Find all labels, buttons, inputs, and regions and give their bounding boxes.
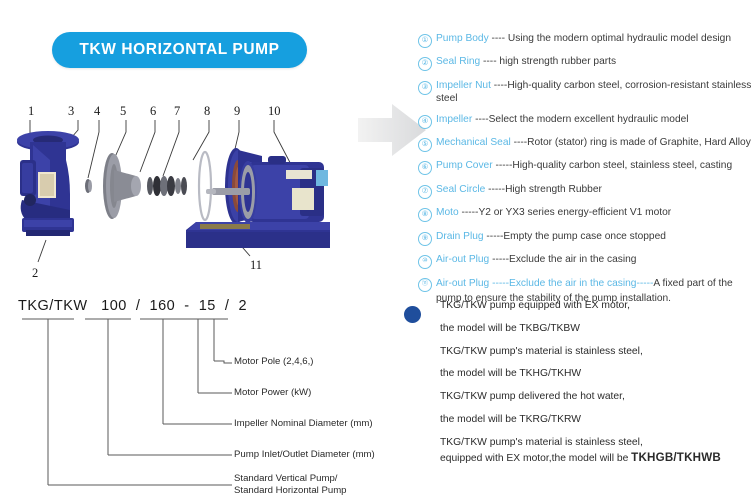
spec-dash: ----- — [493, 160, 513, 171]
spec-text: Seal Circle -----High strength Rubber — [436, 184, 756, 197]
spec-dash-secondary: ----- — [636, 278, 653, 289]
note-line: TKG/TKW pump equipped with EX motor, — [440, 300, 756, 311]
model-label-standard-vertical: Standard Vertical Pump/ — [234, 473, 337, 486]
note-line: the model will be TKBG/TKBW — [440, 323, 756, 334]
spec-dash: ----- — [485, 184, 505, 195]
spec-number: ③ — [418, 81, 432, 95]
spec-number: ⑨ — [418, 232, 432, 246]
spec-description-blue: Exclude the air in the casing — [509, 278, 636, 289]
spec-dash: ----- — [489, 278, 509, 289]
spec-item: ② Seal Ring ---- high strength rubber pa… — [418, 56, 756, 71]
spec-text: Seal Ring ---- high strength rubber part… — [436, 56, 756, 69]
spec-number: ⑤ — [418, 138, 432, 152]
spec-number: ④ — [418, 115, 432, 129]
note-final-prefix: equipped with EX motor,the model will be — [440, 453, 631, 464]
spec-item: ⑥ Pump Cover -----High-quality carbon st… — [418, 160, 756, 175]
spec-part-name: Pump Cover — [436, 160, 493, 171]
model-variant-notes: TKG/TKW pump equipped with EX motor, the… — [404, 300, 756, 476]
spec-dash: ---- — [489, 33, 508, 44]
note-line: TKG/TKW pump delivered the hot water, — [440, 391, 756, 402]
spec-part-name: Mechanical Seal — [436, 137, 511, 148]
model-label-inlet-outlet-diameter: Pump Inlet/Outlet Diameter (mm) — [234, 449, 375, 462]
spec-part-name: Moto — [436, 207, 459, 218]
spec-number: ① — [418, 34, 432, 48]
note-line: the model will be TKRG/TKRW — [440, 414, 756, 425]
model-bracket-lines — [0, 295, 400, 500]
spec-number: ⑧ — [418, 208, 432, 222]
spec-number: ② — [418, 57, 432, 71]
spec-description: Using the modern optimal hydraulic model… — [508, 33, 731, 44]
spec-dash: ---- — [511, 137, 527, 148]
model-label-motor-power: Motor Power (kW) — [234, 387, 311, 400]
note-line: TKG/TKW pump's material is stainless ste… — [440, 346, 756, 357]
model-designation-diagram: TKG/TKW 100 / 160 - 15 / 2 — [0, 295, 400, 500]
model-label-motor-pole: Motor Pole (2,4,6,) — [234, 356, 313, 369]
spec-item: ⑦ Seal Circle -----High strength Rubber — [418, 184, 756, 199]
spec-text: Air-out Plug -----Exclude the air in the… — [436, 254, 756, 267]
spec-text: Mechanical Seal ----Rotor (stator) ring … — [436, 137, 756, 150]
spec-number: ⑦ — [418, 185, 432, 199]
bullet-icon — [404, 306, 421, 323]
spec-part-name: Impeller Nut — [436, 80, 491, 91]
spec-part-name: Impeller — [436, 114, 472, 125]
spec-part-name: Drain Plug — [436, 231, 484, 242]
spec-item: ⑧ Moto -----Y2 or YX3 series energy-effi… — [418, 207, 756, 222]
page-title: TKW HORIZONTAL PUMP — [79, 41, 279, 59]
spec-item: ③ Impeller Nut ----High-quality carbon s… — [418, 80, 756, 106]
spec-number: ⑥ — [418, 161, 432, 175]
spec-item: ⑤ Mechanical Seal ----Rotor (stator) rin… — [418, 137, 756, 152]
spec-text: Drain Plug -----Empty the pump case once… — [436, 231, 756, 244]
spec-item: ④ Impeller ----Select the modern excelle… — [418, 114, 756, 129]
spec-text: Pump Cover -----High-quality carbon stee… — [436, 160, 756, 173]
spec-description: Rotor (stator) ring is made of Graphite,… — [527, 137, 751, 148]
pump-spec-sheet: TKW HORIZONTAL PUMP 1 3 4 5 6 7 8 9 10 2… — [0, 0, 756, 500]
spec-description: Y2 or YX3 series energy-efficient V1 mot… — [478, 207, 671, 218]
spec-item: ① Pump Body ---- Using the modern optima… — [418, 33, 756, 48]
spec-dash: ----- — [489, 254, 509, 265]
spec-dash: ----- — [459, 207, 479, 218]
spec-description: Select the modern excellent hydraulic mo… — [489, 114, 689, 125]
spec-text: Moto -----Y2 or YX3 series energy-effici… — [436, 207, 756, 220]
spec-part-name: Seal Circle — [436, 184, 485, 195]
spec-item: ⑩ Air-out Plug -----Exclude the air in t… — [418, 254, 756, 269]
spec-description: High-quality carbon steel, stainless ste… — [512, 160, 732, 171]
spec-text: Impeller ----Select the modern excellent… — [436, 114, 756, 127]
spec-part-name: Air-out Plug — [436, 278, 489, 289]
spec-dash: ----- — [484, 231, 504, 242]
spec-item: ⑨ Drain Plug -----Empty the pump case on… — [418, 231, 756, 246]
model-label-impeller-diameter: Impeller Nominal Diameter (mm) — [234, 418, 373, 431]
spec-dash: ---- — [472, 114, 488, 125]
note-final-model: TKHGB/TKHWB — [631, 451, 721, 464]
spec-number: ⑪ — [418, 278, 432, 292]
page-title-banner: TKW HORIZONTAL PUMP — [52, 32, 307, 68]
spec-description: High strength Rubber — [505, 184, 602, 195]
component-spec-list: ① Pump Body ---- Using the modern optima… — [418, 33, 756, 315]
spec-text: Impeller Nut ----High-quality carbon ste… — [436, 80, 756, 106]
note-line-final: equipped with EX motor,the model will be… — [440, 452, 756, 465]
spec-part-name: Pump Body — [436, 33, 489, 44]
note-line: TKG/TKW pump's material is stainless ste… — [440, 437, 756, 448]
spec-description: Empty the pump case once stopped — [503, 231, 666, 242]
spec-text: Pump Body ---- Using the modern optimal … — [436, 33, 756, 46]
spec-number: ⑩ — [418, 255, 432, 269]
spec-description: high strength rubber parts — [499, 56, 616, 67]
spec-dash: ---- — [491, 80, 507, 91]
spec-part-name: Air-out Plug — [436, 254, 489, 265]
spec-dash: ---- — [480, 56, 499, 67]
spec-part-name: Seal Ring — [436, 56, 480, 67]
pump-parts-art — [0, 90, 380, 290]
spec-description: Exclude the air in the casing — [509, 254, 636, 265]
exploded-pump-diagram: 1 3 4 5 6 7 8 9 10 2 11 — [0, 90, 380, 290]
note-line: the model will be TKHG/TKHW — [440, 368, 756, 379]
model-label-standard-horizontal: Standard Horizontal Pump — [234, 485, 347, 498]
